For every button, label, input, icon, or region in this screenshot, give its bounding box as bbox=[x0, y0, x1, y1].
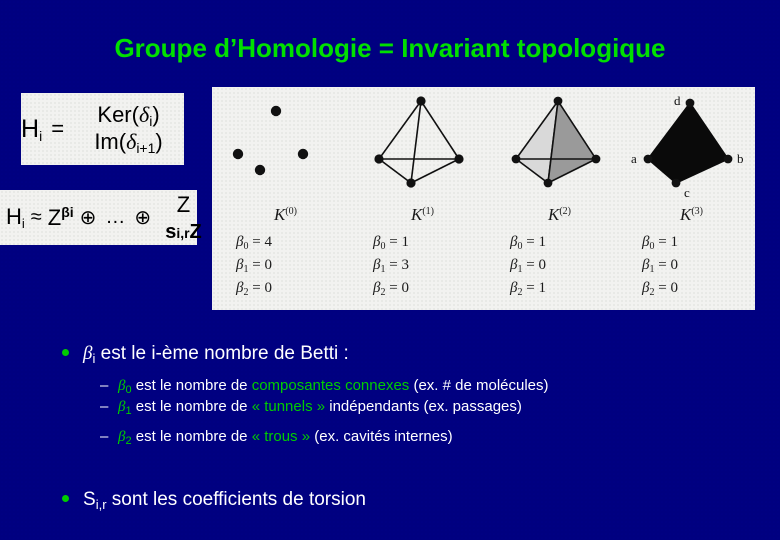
figure-k2-label: K(2) bbox=[492, 205, 627, 225]
figure-k3: d a b c K(3) β0 = 1 β1 = 0 β2 = 0 bbox=[624, 87, 759, 310]
figure-k2-betti-numbers: β0 = 1 β1 = 0 β2 = 1 bbox=[510, 233, 630, 302]
formula1-fraction: Ker(δi) Im(δi+1) bbox=[73, 102, 184, 156]
formula-box-homology-definition: Hi = Ker(δi) Im(δi+1) bbox=[21, 93, 184, 165]
betti-row: β2 = 0 bbox=[236, 279, 356, 302]
figure-k0-betti-numbers: β0 = 4 β1 = 0 β2 = 0 bbox=[236, 233, 356, 302]
figure-k0: K(0) β0 = 4 β1 = 0 β2 = 0 bbox=[218, 87, 353, 310]
figure-k1-betti-numbers: β0 = 1 β1 = 3 β2 = 0 bbox=[373, 233, 493, 302]
wireframe-tetrahedron-diagram bbox=[355, 91, 490, 206]
figure-k1-label: K(1) bbox=[355, 205, 490, 225]
figure-k1-art bbox=[355, 91, 490, 206]
dash-icon: – bbox=[100, 377, 118, 394]
formula1-numerator: Ker(δi) bbox=[93, 102, 163, 128]
formula1-equals: = bbox=[51, 116, 64, 142]
betti-row: β1 = 0 bbox=[236, 256, 356, 279]
points-diagram bbox=[218, 91, 353, 206]
betti-row: β1 = 0 bbox=[642, 256, 762, 279]
vertex-label-a: a bbox=[631, 151, 637, 166]
figure-k1: K(1) β0 = 1 β1 = 3 β2 = 0 bbox=[355, 87, 490, 310]
betti-row: β0 = 1 bbox=[510, 233, 630, 256]
figure-k0-label: K(0) bbox=[218, 205, 353, 225]
betti-row: β2 = 0 bbox=[642, 279, 762, 302]
dash-icon: – bbox=[100, 398, 118, 415]
betti-row: β1 = 0 bbox=[510, 256, 630, 279]
shaded-tetrahedron-diagram bbox=[492, 91, 627, 206]
figure-k3-betti-numbers: β0 = 1 β1 = 0 β2 = 0 bbox=[642, 233, 762, 302]
formula-box-decomposition: Hi ≈ Zβi ⊕ … ⊕ Z si,rZ bbox=[0, 190, 197, 245]
betti-row: β0 = 4 bbox=[236, 233, 356, 256]
bullet-dot-icon bbox=[62, 495, 69, 502]
figure-k3-label: K(3) bbox=[624, 205, 759, 225]
formula2-lhs: Hi bbox=[6, 204, 25, 231]
sub-bullet-beta2: –β2 est le nombre de « trous » (ex. cavi… bbox=[100, 428, 453, 447]
slide-title: Groupe d’Homologie = Invariant topologiq… bbox=[0, 33, 780, 64]
betti-row: β0 = 1 bbox=[642, 233, 762, 256]
formula2-ellipsis: … bbox=[105, 206, 125, 229]
formula2-approx: ≈ bbox=[31, 206, 42, 229]
figure-k2: K(2) β0 = 1 β1 = 0 β2 = 1 bbox=[492, 87, 627, 310]
formula2-numerator: Z bbox=[171, 192, 196, 217]
formula1-lhs: Hi bbox=[21, 115, 42, 144]
formula1-denominator: Im(δi+1) bbox=[90, 127, 166, 154]
formula2-fraction: Z si,rZ bbox=[163, 192, 204, 244]
bullet-torsion-coefficients: Si,r sont les coefficients de torsion bbox=[62, 489, 366, 512]
betti-row: β2 = 1 bbox=[510, 279, 630, 302]
formula2-oplus-1: ⊕ bbox=[80, 205, 97, 230]
figure-k0-art bbox=[218, 91, 353, 206]
sub-bullet-beta1: –β1 est le nombre de « tunnels » indépen… bbox=[100, 398, 522, 417]
formula2-oplus-2: ⊕ bbox=[134, 205, 151, 230]
sub-bullet-beta0: –β0 est le nombre de composantes connexe… bbox=[100, 377, 549, 396]
betti-row: β2 = 0 bbox=[373, 279, 493, 302]
formula2-z-power: Zβi bbox=[48, 204, 74, 231]
simplicial-complex-figure-panel: K(0) β0 = 4 β1 = 0 β2 = 0 bbox=[212, 87, 755, 310]
bullet-dot-icon bbox=[62, 349, 69, 356]
vertex-label-b: b bbox=[737, 151, 744, 166]
figure-k3-art: d a b c bbox=[624, 91, 759, 206]
solid-tetrahedron-diagram: d a b c bbox=[624, 91, 759, 206]
vertex-label-d: d bbox=[674, 93, 681, 108]
dash-icon: – bbox=[100, 428, 118, 445]
figure-k2-art bbox=[492, 91, 627, 206]
bullet-betti-definition: βi est le i-ème nombre de Betti : bbox=[62, 343, 349, 366]
formula2-denominator: si,rZ bbox=[163, 221, 204, 243]
betti-row: β0 = 1 bbox=[373, 233, 493, 256]
betti-row: β1 = 3 bbox=[373, 256, 493, 279]
vertex-label-c: c bbox=[684, 185, 690, 200]
